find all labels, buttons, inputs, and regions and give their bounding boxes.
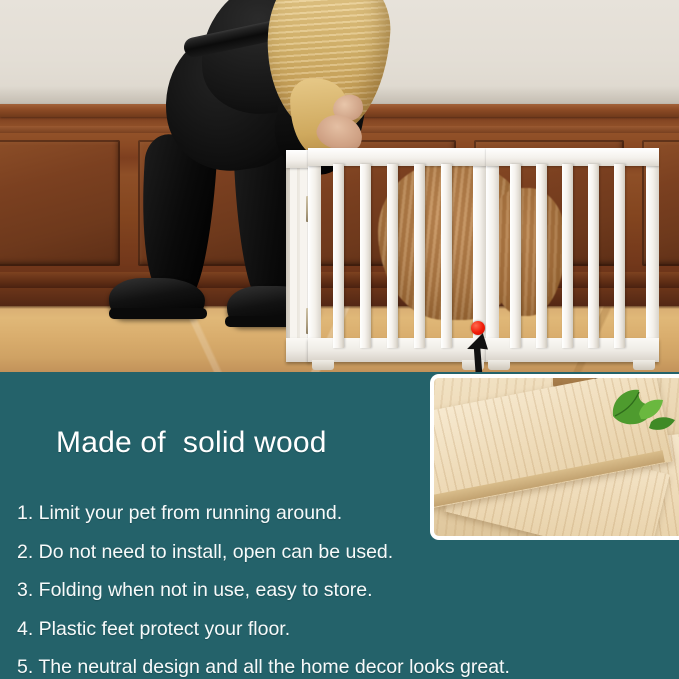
- gate-slat: [562, 164, 573, 348]
- ivy-leaf-icon: [591, 386, 675, 446]
- gate-slat: [588, 164, 599, 348]
- gate-slat: [510, 164, 521, 348]
- gate-frame-bottom: [286, 338, 310, 362]
- gate-slat: [360, 164, 371, 348]
- wainscot-panel: [0, 140, 120, 266]
- gate-slat: [441, 164, 452, 348]
- list-item: 5. The neutral design and all the home d…: [17, 658, 617, 678]
- gate-panel-right: [486, 148, 659, 362]
- gate-slat: [290, 166, 297, 350]
- gate-slat: [333, 164, 344, 348]
- list-item: 3. Folding when not in use, easy to stor…: [17, 581, 617, 601]
- gate-plastic-foot: [312, 360, 334, 370]
- headline: Made of solid wood: [56, 426, 327, 460]
- gate-plastic-foot: [633, 360, 655, 370]
- list-item: 4. Plastic feet protect your floor.: [17, 620, 617, 640]
- gate-stile-right: [646, 148, 659, 362]
- gate-slat: [414, 164, 425, 348]
- gate-frame-top: [286, 150, 310, 168]
- gate-slat: [614, 164, 625, 348]
- gate-slat: [536, 164, 547, 348]
- product-feature-image: Made of solid wood 1. Limit your pet fro…: [0, 0, 679, 679]
- product-lifestyle-photo: [0, 0, 679, 372]
- feature-panel: Made of solid wood 1. Limit your pet fro…: [0, 372, 679, 679]
- boot-sole-left: [109, 308, 207, 319]
- gate-slat: [387, 164, 398, 348]
- wood-inset-photo: [430, 374, 679, 540]
- gate-stile-left: [308, 148, 321, 362]
- list-item: 2. Do not need to install, open can be u…: [17, 543, 617, 563]
- arrow-icon: [452, 330, 500, 372]
